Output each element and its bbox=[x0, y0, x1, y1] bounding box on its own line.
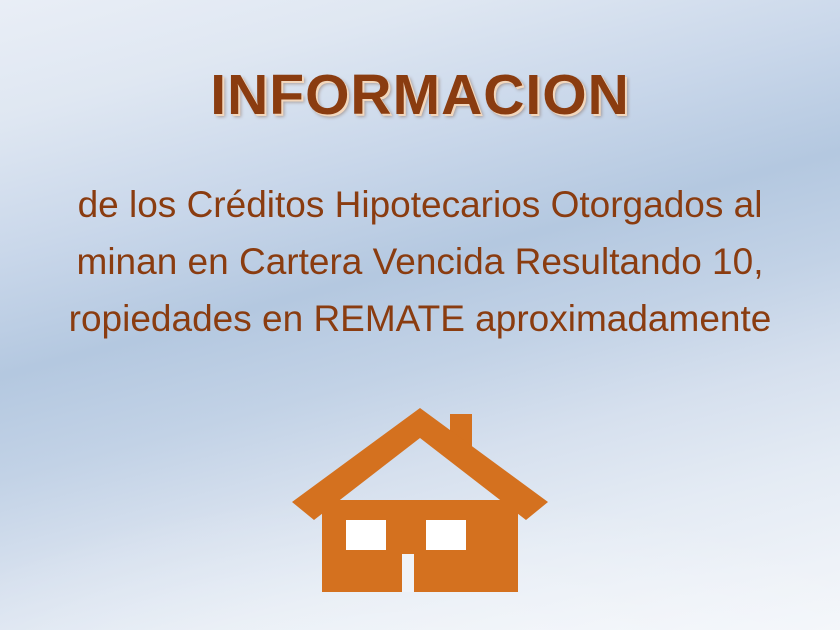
presentation-slide: INFORMACION de los Créditos Hipotecarios… bbox=[0, 0, 840, 630]
slide-body-text: de los Créditos Hipotecarios Otorgados a… bbox=[0, 176, 840, 347]
house-icon bbox=[290, 404, 550, 594]
body-line-3: ropiedades en REMATE aproximadamente bbox=[0, 290, 840, 347]
body-line-1: de los Créditos Hipotecarios Otorgados a… bbox=[0, 176, 840, 233]
body-line-2: minan en Cartera Vencida Resultando 10, bbox=[0, 233, 840, 290]
house-graphic bbox=[0, 404, 840, 599]
page-title: INFORMACION bbox=[0, 62, 840, 128]
